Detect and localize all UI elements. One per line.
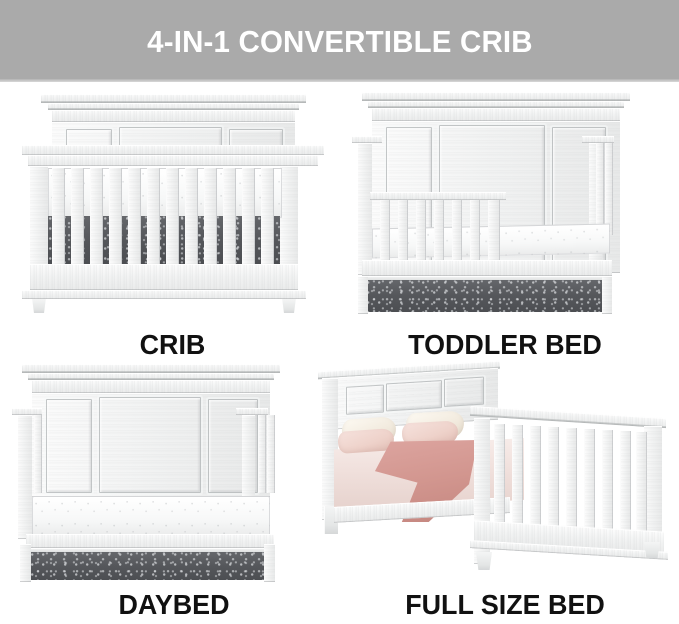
header-banner: 4-IN-1 CONVERTIBLE CRIB	[0, 0, 679, 82]
daybed-back-inset-center	[99, 397, 201, 493]
toddler-crown-molding-lower	[368, 101, 624, 108]
product-image-daybed	[8, 356, 338, 588]
daybed-back-panel-field	[32, 393, 270, 497]
daybed-back-inset-left	[46, 399, 92, 493]
fullbed-headboard-inset-1	[346, 385, 384, 415]
toddler-right-arm-cap	[582, 136, 614, 143]
page-title: 4-IN-1 CONVERTIBLE CRIB	[147, 26, 533, 57]
toddler-left-arm-cap	[352, 136, 382, 143]
crib-left-post	[30, 166, 48, 279]
product-image-crib	[8, 84, 338, 329]
caption-crib: CRIB	[7, 331, 338, 359]
toddler-crown-molding	[362, 92, 630, 101]
daybed-leg-left	[20, 544, 31, 582]
toddler-leg-left	[358, 276, 368, 314]
daybed-illustration	[8, 356, 338, 588]
caption-full-size-bed: FULL SIZE BED	[347, 591, 664, 619]
toddler-bed-illustration	[344, 84, 674, 329]
daybed-leg-right	[264, 544, 275, 582]
daybed-crown-molding	[22, 364, 280, 373]
fullbed-headboard-inset-2	[386, 380, 442, 411]
daybed-crown-molding-lower	[28, 373, 274, 380]
toddler-guard-rail-top	[370, 192, 506, 200]
daybed-right-arm-cap	[236, 408, 268, 415]
crib-crown-molding	[41, 94, 306, 103]
toddler-headboard-frieze	[372, 108, 620, 121]
daybed-base-rail	[26, 534, 274, 548]
crib-foot-left	[30, 299, 48, 313]
fullbed-pillow-front-left	[337, 428, 394, 454]
crib-crown-molding-lower	[48, 103, 299, 110]
caption-daybed: DAYBED	[7, 591, 341, 619]
daybed-mattress	[32, 496, 270, 536]
toddler-bed-skirt	[366, 280, 606, 312]
crib-illustration	[8, 84, 338, 329]
full-size-bed-illustration	[314, 356, 674, 588]
toddler-left-post	[358, 143, 372, 275]
toddler-leg-right	[602, 276, 612, 314]
product-image-full-size-bed	[314, 356, 674, 588]
product-image-toddler-bed	[344, 84, 674, 329]
toddler-side-rail	[362, 260, 612, 276]
crib-right-post	[280, 166, 298, 279]
daybed-left-arm-slat	[34, 415, 42, 493]
daybed-headboard-frieze	[32, 380, 270, 393]
daybed-bed-skirt	[30, 552, 268, 580]
crib-top-rail	[22, 145, 324, 155]
crib-top-rail-lower	[28, 155, 318, 166]
daybed-left-arm-cap	[12, 408, 42, 415]
crib-base-molding	[22, 290, 306, 299]
crib-foot-right	[280, 299, 298, 313]
daybed-left-post	[18, 415, 32, 539]
infographic-root: 4-IN-1 CONVERTIBLE CRIB	[0, 0, 679, 624]
crib-headboard-frieze	[52, 110, 295, 122]
crib-bottom-rail	[30, 264, 298, 290]
fullbed-headboard-inset-3	[444, 377, 484, 407]
caption-toddler-bed: TODDLER BED	[347, 331, 664, 359]
